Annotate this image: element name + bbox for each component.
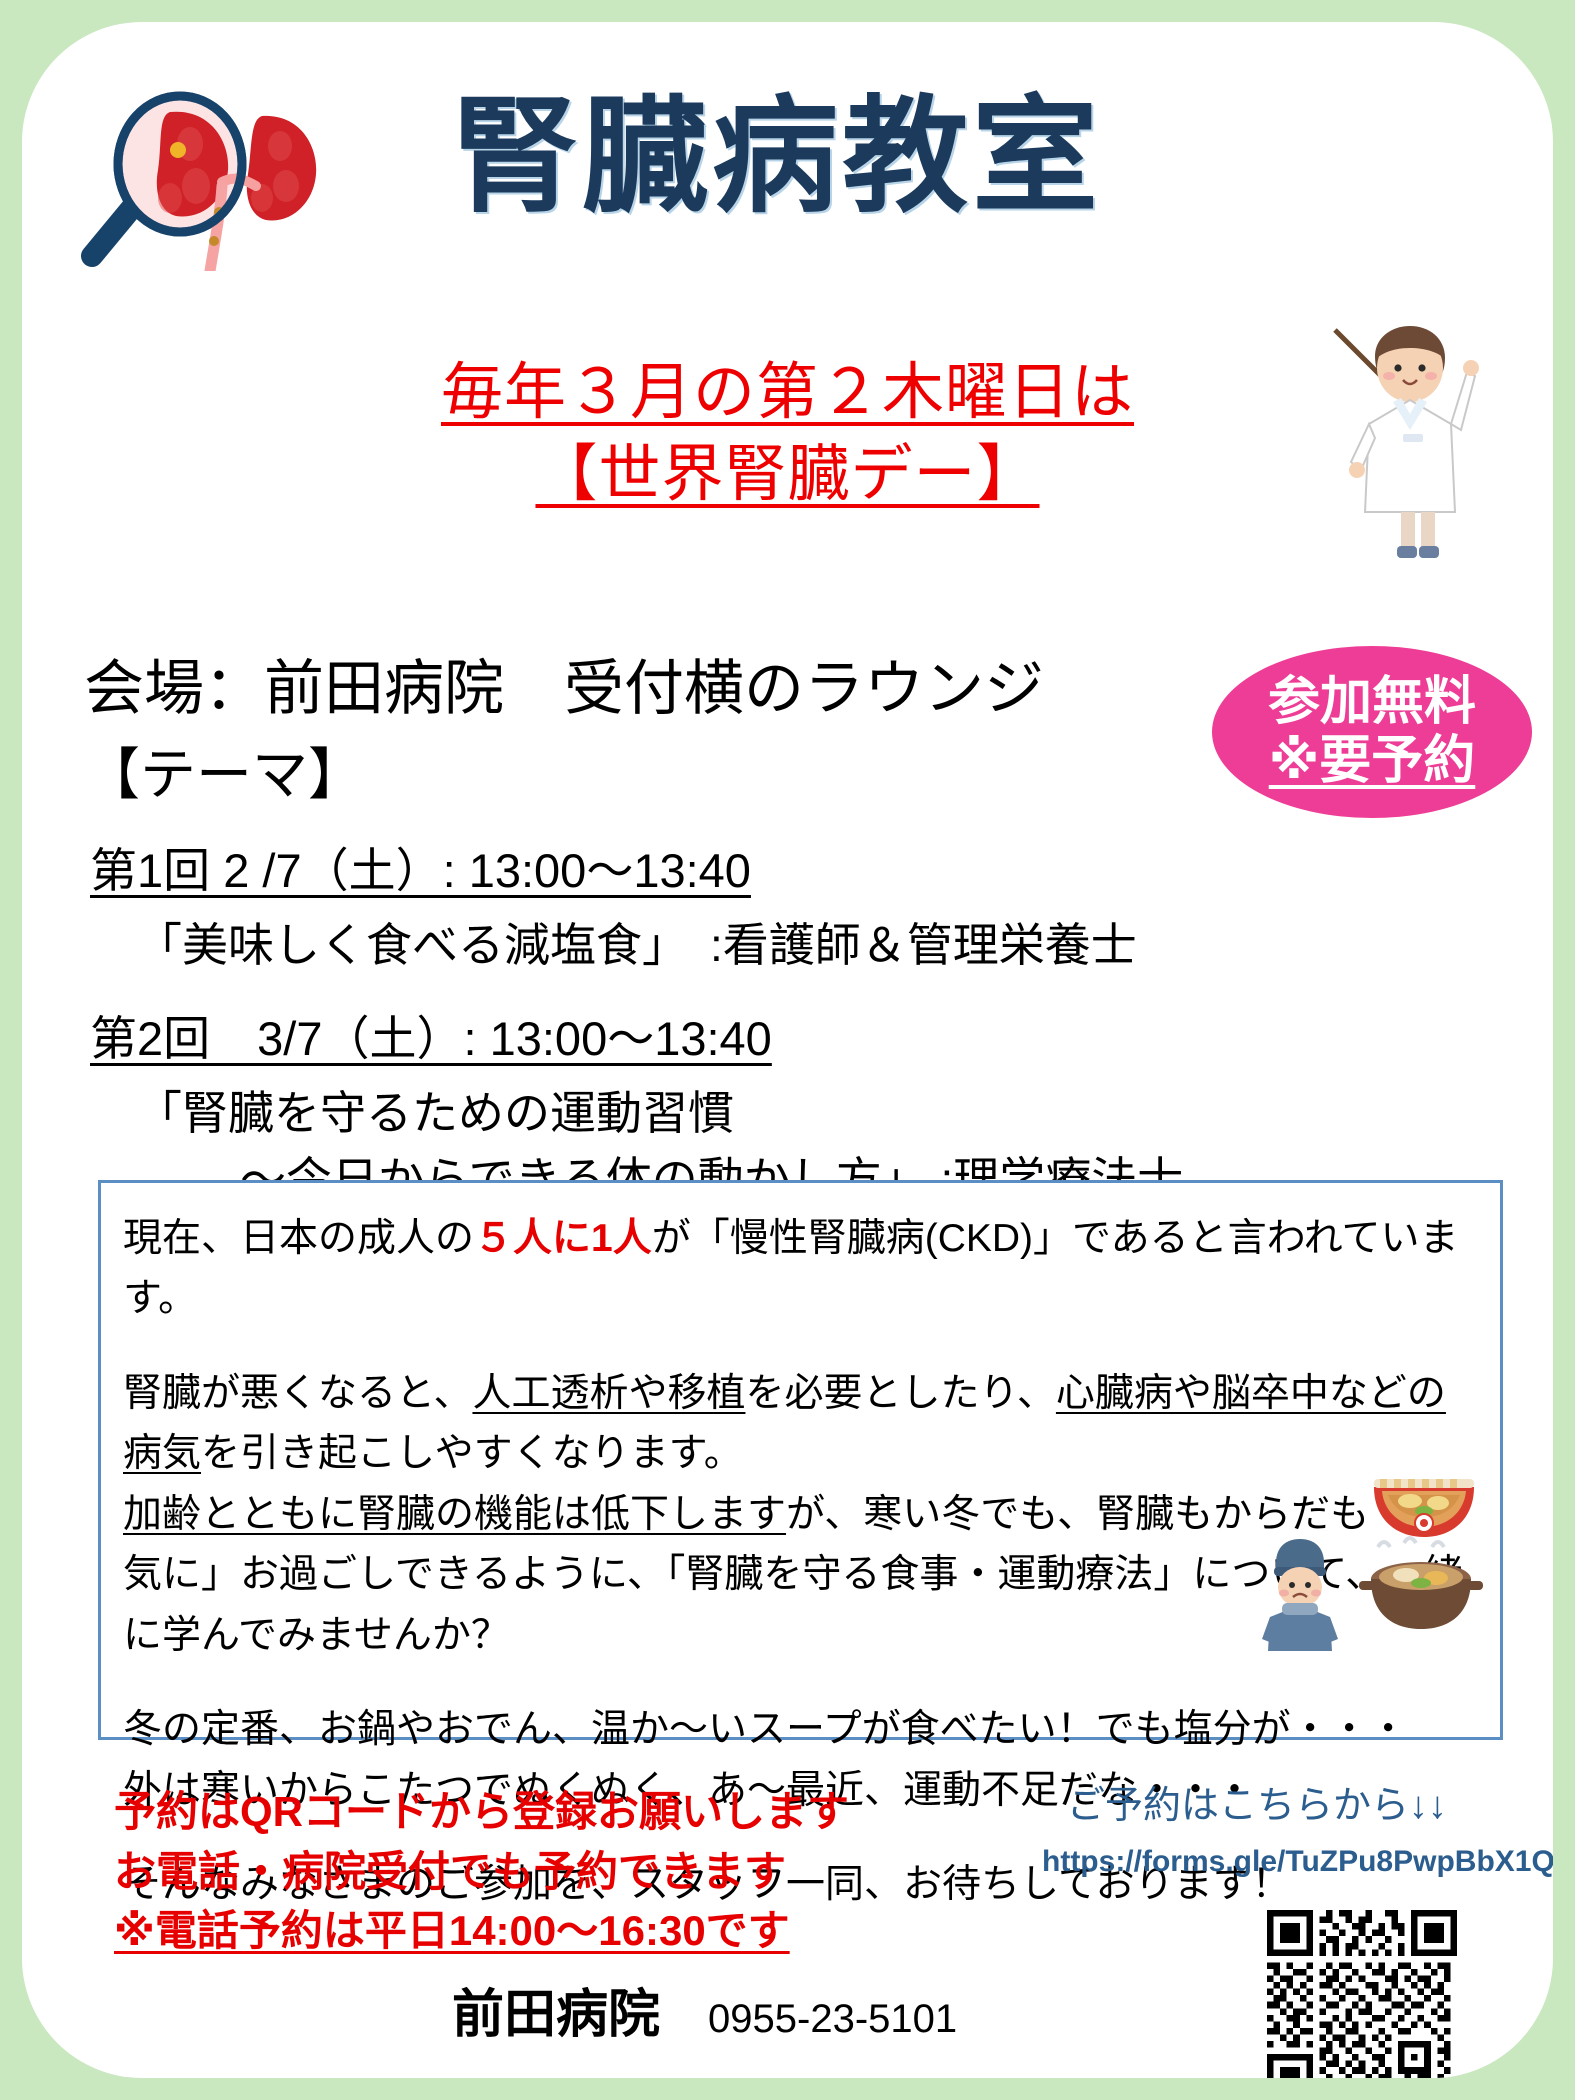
badge-free-label: 参加無料	[1268, 673, 1476, 732]
theme-label: 【テーマ】	[84, 730, 364, 811]
cold-person-icon	[1250, 1533, 1350, 1653]
hospital-name: 前田病院	[452, 1972, 660, 2047]
desc-p1-highlight: ５人に1人	[474, 1217, 652, 1260]
poster-background: 腎臓病教室 毎年３月の第２木曜日は 【世界腎臓デー】	[0, 0, 1575, 2100]
session-2: 第2回 3/7（土）: 13:00〜13:40 「腎臓を守るための運動習慣 〜今…	[90, 1000, 1183, 1209]
session-1-speaker: :看護師＆管理栄養士	[710, 909, 1137, 975]
reservation-here-label: ご予約はこちらから↓↓	[1042, 1774, 1472, 1829]
desc-p2-part-c: を引き起こしやすくなります。	[201, 1432, 743, 1475]
hotpot-nabe-icon	[1356, 1533, 1486, 1633]
nurse-illustration-icon	[1315, 312, 1505, 562]
session-1-head-row: 第1回 2 /7（土）: 13:00〜13:40	[90, 832, 1370, 901]
poster-card: 腎臓病教室 毎年３月の第２木曜日は 【世界腎臓デー】	[22, 22, 1553, 2078]
footer: 前田病院 0955-23-5101	[452, 1972, 957, 2047]
desc-p3-underline: 加齢とともに腎臓の機能は低下します	[123, 1493, 786, 1536]
description-paragraph-4-line1: 冬の定番、お鍋やおでん、温か〜いスープが食べたい！でも塩分が・・・	[123, 1700, 1478, 1760]
qr-code[interactable]	[1267, 1910, 1457, 2078]
session-1-head: 第1回 2 /7（土）: 13:00〜13:40	[90, 832, 751, 901]
subtitle-line-1-text: 毎年３月の第２木曜日は	[441, 358, 1134, 427]
reservation-red-line-1: 予約はQRコードから登録お願いします	[114, 1782, 849, 1842]
free-admission-badge: 参加無料 ※要予約	[1212, 646, 1532, 818]
reservation-instructions: 予約はQRコードから登録お願いします お電話・病院受付でも予約できます ※電話予…	[114, 1782, 849, 1961]
spacer-2	[123, 1666, 1478, 1700]
poster-header: 腎臓病教室	[22, 60, 1553, 270]
kidney-magnifier-icon	[62, 86, 332, 271]
session-2-head-row: 第2回 3/7（土）: 13:00〜13:40	[90, 1000, 1183, 1069]
badge-reservation-label: ※要予約	[1269, 732, 1476, 791]
desc-p1-part-a: 現在、日本の成人の	[123, 1217, 474, 1260]
spacer-1	[123, 1330, 1478, 1364]
session-2-title: 「腎臓を守るための運動習慣	[136, 1077, 1183, 1143]
reservation-red-line-2: お電話・病院受付でも予約できます	[114, 1842, 849, 1902]
session-1-body: 「美味しく食べる減塩食」 :看護師＆管理栄養士	[90, 909, 1370, 975]
desc-p2-part-a: 腎臓が悪くなると、	[123, 1372, 472, 1415]
reservation-red-line-3: ※電話予約は平日14:00〜16:30です	[114, 1901, 849, 1961]
description-box: 現在、日本の成人の５人に1人が「慢性腎臓病(CKD)」であると言われています。 …	[98, 1180, 1503, 1740]
description-paragraph-1: 現在、日本の成人の５人に1人が「慢性腎臓病(CKD)」であると言われています。	[123, 1209, 1478, 1330]
description-paragraph-2: 腎臓が悪くなると、人工透析や移植を必要としたり、心臓病や脳卒中などの病気を引き起…	[123, 1364, 1478, 1485]
ramen-bowl-icon	[1366, 1451, 1482, 1541]
reservation-link-block: ご予約はこちらから↓↓ https://forms.gle/TuZPu8PwpB…	[1042, 1774, 1472, 1879]
session-1-title: 「美味しく食べる減塩食」	[136, 909, 688, 975]
desc-p2-part-b: を必要としたり、	[745, 1372, 1055, 1415]
desc-p2-underline-1: 人工透析や移植	[472, 1372, 745, 1415]
subtitle-line-2-text: 【世界腎臓デー】	[535, 440, 1039, 509]
hospital-phone: 0955-23-5101	[708, 1997, 957, 2042]
venue-line: 会場：前田病院 受付横のラウンジ	[84, 640, 1044, 727]
session-1: 第1回 2 /7（土）: 13:00〜13:40 「美味しく食べる減塩食」 :看…	[90, 832, 1370, 975]
page-title: 腎臓病教室	[452, 88, 1102, 227]
session-2-head: 第2回 3/7（土）: 13:00〜13:40	[90, 1000, 772, 1069]
reservation-url[interactable]: https://forms.gle/TuZPu8PwpBbX1Qd5A	[1042, 1845, 1472, 1879]
